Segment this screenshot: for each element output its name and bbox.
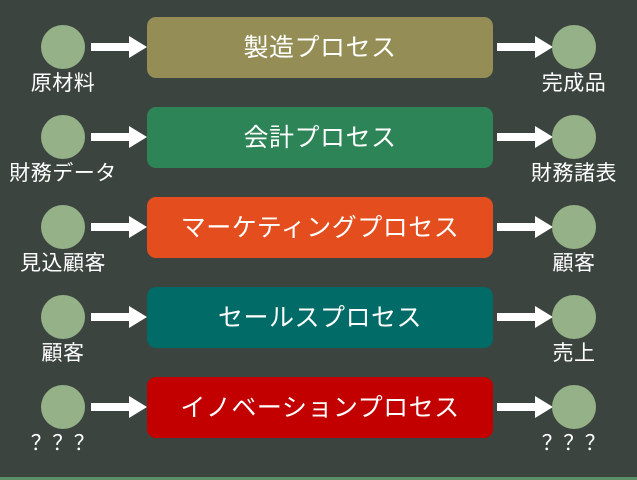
input-node[interactable]	[41, 115, 85, 159]
output-node[interactable]	[552, 205, 596, 249]
process-box-label: 製造プロセス	[243, 34, 396, 62]
process-row: 顧客 セールスプロセス 売上	[0, 270, 637, 360]
input-node[interactable]	[41, 205, 85, 249]
process-box[interactable]: セールスプロセス	[147, 287, 493, 348]
arrow-right-icon	[91, 396, 147, 418]
process-diagram-canvas: 原材料 製造プロセス 完成品 財務データ 会計プロセス	[0, 0, 637, 480]
input-node[interactable]	[41, 25, 85, 69]
process-box[interactable]: 会計プロセス	[147, 107, 493, 168]
arrow-right-icon	[91, 306, 147, 328]
process-box-label: セールスプロセス	[218, 304, 422, 332]
arrow-right-icon	[497, 126, 553, 148]
arrow-right-icon	[91, 126, 147, 148]
output-node-label: ？？？	[494, 431, 637, 455]
process-box-label: イノベーションプロセス	[180, 394, 459, 422]
output-node[interactable]	[552, 115, 596, 159]
input-node-label: ？？？	[0, 431, 143, 455]
input-node[interactable]	[41, 385, 85, 429]
arrow-right-icon	[91, 216, 147, 238]
arrow-right-icon	[497, 216, 553, 238]
process-box[interactable]: 製造プロセス	[147, 17, 493, 78]
process-row: 財務データ 会計プロセス 財務諸表	[0, 90, 637, 180]
process-box[interactable]: マーケティングプロセス	[147, 197, 493, 258]
arrow-right-icon	[497, 36, 553, 58]
output-node[interactable]	[552, 295, 596, 339]
process-box-label: マーケティングプロセス	[181, 214, 460, 242]
process-row: ？？？ イノベーションプロセス ？？？	[0, 360, 637, 450]
arrow-right-icon	[91, 36, 147, 58]
process-row: 原材料 製造プロセス 完成品	[0, 0, 637, 90]
output-node[interactable]	[552, 25, 596, 69]
process-box-label: 会計プロセス	[243, 124, 396, 152]
output-node[interactable]	[552, 385, 596, 429]
process-box[interactable]: イノベーションプロセス	[147, 377, 493, 438]
arrow-right-icon	[497, 306, 553, 328]
arrow-right-icon	[497, 396, 553, 418]
process-row: 見込顧客 マーケティングプロセス 顧客	[0, 180, 637, 270]
input-node[interactable]	[41, 295, 85, 339]
